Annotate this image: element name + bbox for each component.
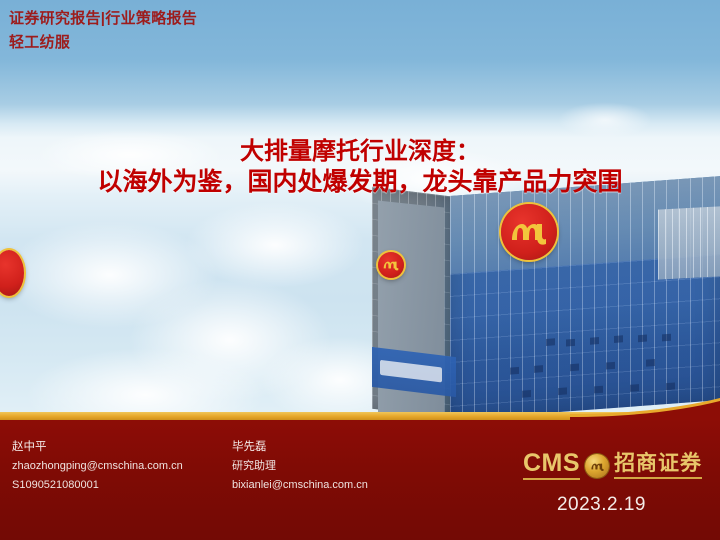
- report-industry-label: 轻工纺服: [9, 33, 197, 53]
- cloud-decoration: [0, 330, 310, 420]
- gold-divider-curve: [570, 398, 720, 422]
- analyst-email[interactable]: zhaozhongping@cmschina.com.cn: [12, 457, 183, 476]
- cms-building-emblem-icon: [501, 204, 557, 260]
- analyst-license-number: S1090521080001: [12, 476, 183, 495]
- cover-photo-backdrop: [0, 0, 720, 420]
- cloud-decoration: [90, 255, 370, 420]
- title-line-1: 大排量摩托行业深度：: [0, 136, 720, 167]
- presentation-cover-slide: 证券研究报告|行业策略报告 轻工纺服 大排量摩托行业深度： 以海外为鉴，国内处爆…: [0, 0, 720, 540]
- assistant-name: 毕先磊: [232, 438, 368, 457]
- cms-abbreviation: CMS: [523, 450, 580, 480]
- cms-brand-logo: CMS 招商证券: [523, 450, 702, 480]
- title-line-2: 以海外为鉴，国内处爆发期，龙头靠产品力突围: [0, 167, 720, 198]
- report-category-label: 证券研究报告|行业策略报告: [9, 9, 197, 29]
- analyst-contact-primary: 赵中平 zhaozhongping@cmschina.com.cn S10905…: [12, 438, 183, 495]
- cover-title: 大排量摩托行业深度： 以海外为鉴，国内处爆发期，龙头靠产品力突围: [0, 136, 720, 198]
- report-date: 2023.2.19: [557, 494, 646, 516]
- cover-footer: 赵中平 zhaozhongping@cmschina.com.cn S10905…: [0, 420, 720, 540]
- report-header: 证券研究报告|行业策略报告 轻工纺服: [9, 9, 197, 54]
- background-building: [658, 206, 720, 279]
- cms-brand-name-cn: 招商证券: [614, 451, 702, 479]
- cms-badge-icon: [585, 454, 609, 478]
- cms-building-emblem-icon: [0, 250, 24, 296]
- cloud-decoration: [150, 185, 400, 305]
- assistant-role: 研究助理: [232, 457, 368, 476]
- cloud-decoration: [0, 200, 260, 350]
- assistant-email[interactable]: bixianlei@cmschina.com.cn: [232, 476, 368, 495]
- cms-building-emblem-icon: [378, 252, 404, 278]
- analyst-name: 赵中平: [12, 438, 183, 457]
- analyst-contact-secondary: 毕先磊 研究助理 bixianlei@cmschina.com.cn: [232, 438, 368, 495]
